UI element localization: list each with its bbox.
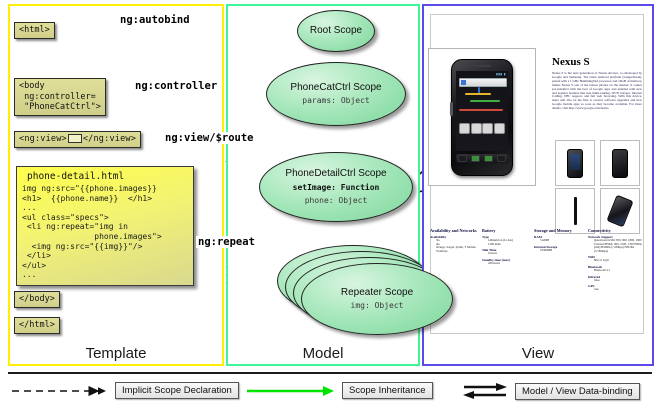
legend-label-inheritance: Scope Inheritance	[342, 382, 433, 399]
legend-label-binding: Model / View Data-binding	[515, 383, 640, 400]
spec-value: false	[588, 279, 642, 283]
phone-screen: ▮▮▮ ▮	[456, 71, 508, 151]
app-icon-3	[482, 123, 493, 134]
scope-phonedetailctrl[interactable]: PhoneDetailCtrl Scope setImage: Function…	[259, 152, 413, 222]
thumbnail-phone-front[interactable]	[555, 140, 595, 186]
panel-view-label: View	[424, 345, 652, 362]
scope-phonecatctrl[interactable]: PhoneCatCtrl Scope params: Object	[266, 62, 406, 126]
spec-value: 1500 mAh	[482, 243, 530, 247]
label-ng-autobind: ng:autobind	[118, 14, 192, 26]
phone-hero-image: ▮▮▮ ▮	[451, 59, 513, 176]
ngview-close-tag: </ng:view>	[83, 134, 136, 144]
key-home	[484, 155, 493, 162]
panel-model-label: Model	[228, 345, 418, 362]
screen-accent-green	[470, 100, 500, 102]
sticky-note-phone-detail: phone-detail.html img ng:src="{{phone.im…	[16, 166, 194, 286]
app-icon-4	[494, 123, 505, 134]
legend-item-implicit-scope-declaration: Implicit Scope Declaration	[10, 382, 239, 399]
product-title: Nexus S	[552, 56, 590, 68]
scope-root-name: Root Scope	[310, 25, 362, 37]
spec-value: Bluetooth 2.1	[588, 269, 642, 273]
spec-column-availability: Availability and Networks Availability 3…	[430, 228, 478, 253]
ngview-open-tag: <ng:view>	[19, 134, 67, 144]
phone-status-bar: ▮▮▮ ▮	[496, 72, 506, 76]
spec-value: 802.11 b/g/n	[588, 259, 642, 263]
spec-value: true	[588, 288, 642, 292]
scope-repeater[interactable]: Repeater Scope img: Object	[301, 263, 453, 335]
spec-header: Connectivity	[588, 228, 642, 233]
scope-phonedetailctrl-name: PhoneDetailCtrl Scope	[285, 168, 386, 180]
diagram-root: Template <html> <body ng:controller= "Ph…	[0, 0, 660, 420]
phone-side-icon	[574, 197, 577, 225]
screen-accent-yellow	[465, 93, 491, 95]
hero-image-frame[interactable]: ▮▮▮ ▮	[428, 48, 536, 186]
app-icon-1	[459, 123, 470, 134]
phone-front-icon	[567, 149, 583, 178]
label-ng-controller: ng:controller	[133, 80, 219, 92]
note-code: img ng:src="{{phone.images}} <h1> {{phon…	[17, 184, 193, 285]
double-arrow-icon	[462, 382, 508, 400]
product-description: Nexus S is the next generation of Nexus …	[552, 72, 642, 111]
google-g-icon	[461, 80, 466, 85]
code-box-body: <body ng:controller= "PhoneCatCtrl">	[14, 78, 106, 116]
legend-item-scope-inheritance: Scope Inheritance	[245, 382, 433, 399]
spec-header: Availability and Networks	[430, 228, 478, 233]
key-menu	[497, 155, 506, 162]
dashed-arrow-icon	[10, 384, 108, 398]
spec-value: 6 hours	[482, 252, 530, 256]
label-ng-repeat: ng:repeat	[196, 236, 257, 248]
legend-label-implicit: Implicit Scope Declaration	[115, 382, 239, 399]
panel-template-label: Template	[10, 345, 222, 362]
phone-angle-icon	[606, 195, 633, 228]
scope-repeater-prop-img: img: Object	[351, 301, 404, 311]
thumbnail-phone-back[interactable]	[600, 140, 640, 186]
legend-item-model-view-data-binding: Model / View Data-binding	[462, 382, 640, 400]
key-call	[471, 155, 480, 162]
phone-volume-button	[450, 102, 453, 116]
legend-divider	[8, 372, 652, 374]
note-filename: phone-detail.html	[17, 167, 193, 184]
spec-column-connectivity: Connectivity Network Support Quad-band G…	[588, 228, 642, 292]
scope-phonecatctrl-name: PhoneCatCtrl Scope	[290, 82, 381, 94]
app-icon-2	[471, 123, 482, 134]
phone-hardware-keys	[456, 154, 508, 163]
spec-value: 512MB	[534, 239, 588, 243]
ngview-slot-placeholder	[68, 134, 82, 143]
phone-back-icon	[612, 149, 628, 178]
spec-column-battery: Battery Type Lithium Ion (Li-Ion) 1500 m…	[482, 228, 530, 265]
spec-value: Quad-band GSM: 850, 900, 1800, 1900 Tri-…	[588, 239, 642, 253]
spec-header: Battery	[482, 228, 530, 233]
spec-value: Orange, Sorger, Sprint, T Mobile, Vodafo…	[430, 246, 478, 253]
scope-repeater-name: Repeater Scope	[341, 287, 413, 299]
code-box-body-close: </body>	[14, 291, 60, 308]
scope-root[interactable]: Root Scope	[297, 10, 375, 52]
green-arrow-icon	[245, 384, 335, 398]
screen-accent-red	[459, 109, 503, 111]
code-box-html-close: </html>	[14, 317, 60, 334]
key-back	[458, 155, 467, 162]
code-box-html-open: <html>	[14, 22, 55, 39]
spec-column-storage: Storage and Memory RAM 512MB Internal St…	[534, 228, 588, 252]
label-ng-view-route: ng:view/$route	[163, 132, 256, 144]
specs-table: Availability and Networks Availability 3…	[430, 228, 642, 308]
code-box-ngview: <ng:view></ng:view>	[14, 131, 141, 148]
scope-phonecatctrl-prop-params: params: Object	[302, 96, 369, 106]
scope-phonedetailctrl-prop-phone: phone: Object	[305, 196, 368, 206]
spec-value: 16384MB	[534, 249, 588, 253]
spec-value: 428 hours	[482, 262, 530, 266]
phone-search-widget	[459, 78, 507, 87]
phone-speaker	[473, 65, 491, 67]
spec-header: Storage and Memory	[534, 228, 588, 233]
scope-phonedetailctrl-prop-setimage: setImage: Function	[293, 183, 380, 193]
phone-app-dock	[459, 123, 505, 134]
